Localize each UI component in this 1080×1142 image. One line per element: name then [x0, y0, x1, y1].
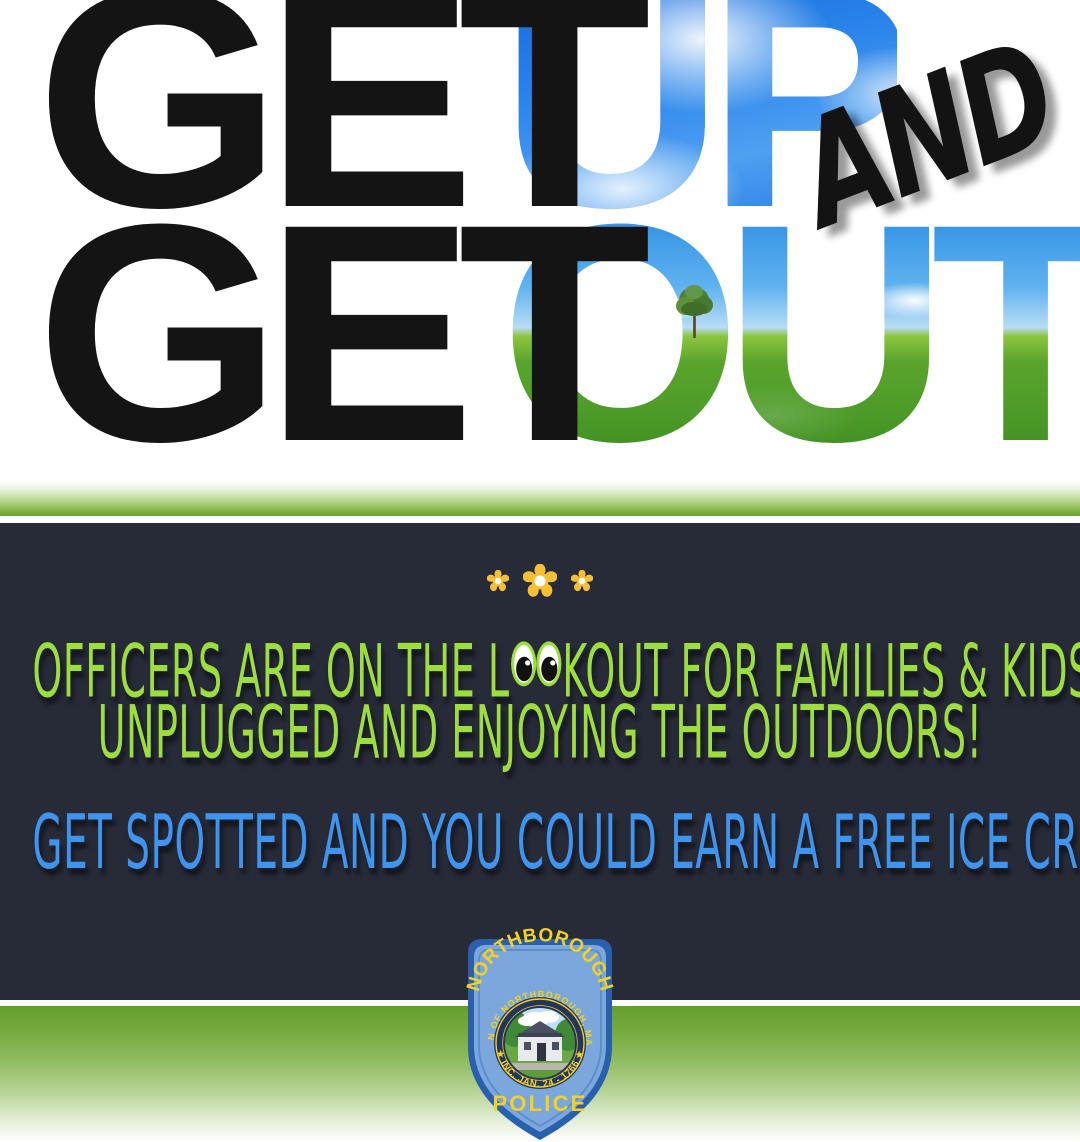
badge-bottom-text: POLICE [492, 1091, 587, 1116]
flower-icon-center [523, 564, 557, 598]
divider-green-top [0, 481, 1080, 516]
poster-root: UP GET OUT GET AND [0, 0, 1080, 1142]
googly-eyes-icon [510, 624, 563, 697]
message-line-3: GET SPOTTED AND YOU COULD EARN A FREE IC… [32, 798, 1047, 885]
flower-icon-right [571, 570, 593, 592]
divider-white-gap-top [0, 516, 1080, 523]
hero-headline-area: UP GET OUT GET AND [0, 0, 1080, 481]
flower-icon-left [487, 570, 509, 592]
police-badge: NORTHBOROUGH [452, 925, 628, 1142]
headline-word-get-line2: GET [36, 212, 634, 454]
flower-decoration-row [0, 561, 1080, 601]
message-line-2: UNPLUGGED AND ENJOYING THE OUTDOORS! [32, 690, 1047, 776]
